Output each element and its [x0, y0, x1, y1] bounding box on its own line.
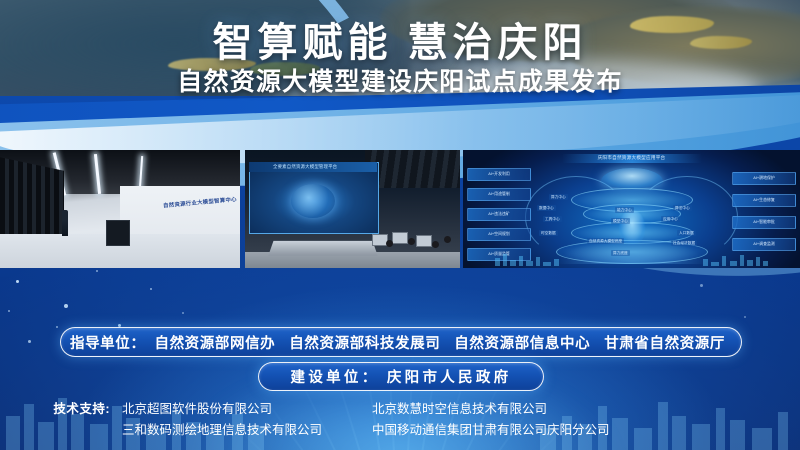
p3-node-11: 算力底座 [611, 250, 630, 256]
p3-header-title: 庆阳市自然资源大模型应用平台 [598, 155, 666, 161]
p3-left-panel-1: AI+用途管制 [467, 188, 531, 201]
p3-node-7: 时空数据 [539, 230, 558, 236]
p2-person-1 [386, 240, 393, 247]
p3-right-panel-0: AI+耕地保护 [732, 172, 796, 185]
p3-left-panel-label-1: AI+用途管制 [468, 189, 530, 200]
p3-node-5: 应用中心 [661, 216, 680, 222]
support-row-1: 技术支持: 北京超图软件股份有限公司 北京数慧时空信息技术有限公司 [0, 399, 800, 420]
p2-globe-graphic [291, 184, 335, 218]
support-row-1-left: 北京超图软件股份有限公司 [122, 399, 372, 420]
p3-left-panel-3: AI+空间规划 [467, 228, 531, 241]
p3-node-2: 工具中心 [543, 216, 562, 222]
p2-person-4 [444, 236, 451, 243]
p3-city-mini-left [493, 250, 563, 266]
support-row-2-left: 三和数码测绘地理信息技术有限公司 [122, 420, 372, 441]
photo-digital-platform: 庆阳市自然资源大模型应用平台 AI+开发利用 AI+用途管制 AI+违法违矿 A… [463, 150, 800, 268]
p3-right-panel-2: AI+智能审批 [732, 216, 796, 229]
p3-right-panel-1: AI+生态修复 [732, 194, 796, 207]
guidance-unit-0: 自然资源部网信办 [154, 332, 275, 353]
p3-right-panel-label-0: AI+耕地保护 [733, 173, 795, 184]
p1-person [62, 210, 68, 236]
guidance-unit-3: 甘肃省自然资源厅 [604, 332, 725, 353]
p2-ceiling-grid [365, 150, 460, 188]
p3-node-6: 算法中心 [673, 205, 692, 211]
p3-right-panel-label-2: AI+智能审批 [733, 217, 795, 228]
support-row-2: 三和数码测绘地理信息技术有限公司 中国移动通信集团甘肃有限公司庆阳分公司 [0, 420, 800, 441]
photo-control-room: 全要素自然资源大模型管理平台 [245, 150, 460, 268]
poster-root: 自然资源行业大模型智算中心 全要素自然资源大模型管理平台 [0, 0, 800, 450]
p3-right-panel-label-3: AI+调查监测 [733, 239, 795, 250]
p3-node-8: 人口数据 [677, 230, 696, 236]
p2-person-2 [408, 238, 415, 245]
page-title: 智算赋能 慧治庆阳 [0, 10, 800, 68]
guidance-label: 指导单位： [70, 332, 146, 353]
construction-unit-badge: 建设单位： 庆阳市人民政府 [258, 362, 544, 391]
technical-support-block: 技术支持: 北京超图软件股份有限公司 北京数慧时空信息技术有限公司 三和数码测绘… [0, 399, 800, 441]
photo-strip: 自然资源行业大模型智算中心 全要素自然资源大模型管理平台 [0, 150, 800, 268]
guidance-units-badge: 指导单位： 自然资源部网信办 自然资源部科技发展司 自然资源部信息中心 甘肃省自… [60, 327, 742, 357]
photo-intelligent-computing-center: 自然资源行业大模型智算中心 [0, 150, 240, 268]
p2-console-desk [268, 241, 377, 256]
support-row-1-right: 北京数慧时空信息技术有限公司 [372, 399, 692, 420]
support-label: 技术支持: [0, 399, 122, 420]
p3-right-panel-label-1: AI+生态修复 [733, 195, 795, 206]
p3-node-4: 能力中心 [615, 207, 634, 213]
p3-left-panel-0: AI+开发利用 [467, 168, 531, 181]
p2-screen-title: 全要素自然资源大模型管理平台 [273, 164, 377, 170]
support-row-2-right: 中国移动通信集团甘肃有限公司庆阳分公司 [372, 420, 692, 441]
guidance-unit-2: 自然资源部信息中心 [454, 332, 590, 353]
p3-city-mini-right [700, 250, 770, 266]
p3-left-panel-label-2: AI+违法违矿 [468, 209, 530, 220]
p3-right-panel-3: AI+调查监测 [732, 238, 796, 251]
p3-left-panel-label-3: AI+空间规划 [468, 229, 530, 240]
p3-node-10: 自然资源大模型底座 [587, 238, 624, 244]
p3-node-1: 数据中心 [537, 205, 556, 211]
p3-left-panel-2: AI+违法违矿 [467, 208, 531, 221]
p1-cabinet [106, 220, 130, 246]
support-label-spacer [0, 420, 122, 441]
p3-node-3: 模型中心 [611, 218, 630, 224]
p2-monitor-3 [416, 235, 432, 247]
p3-left-panel-label-0: AI+开发利用 [468, 169, 530, 180]
page-subtitle: 自然资源大模型建设庆阳试点成果发布 [0, 62, 800, 98]
p2-person-3 [432, 241, 439, 248]
p2-monitor-2 [392, 232, 408, 244]
p2-operator-row [370, 226, 454, 260]
guidance-unit-1: 自然资源部科技发展司 [289, 332, 440, 353]
p3-node-0: 算力中心 [549, 194, 568, 200]
p3-node-9: 社会经济数据 [671, 240, 697, 246]
